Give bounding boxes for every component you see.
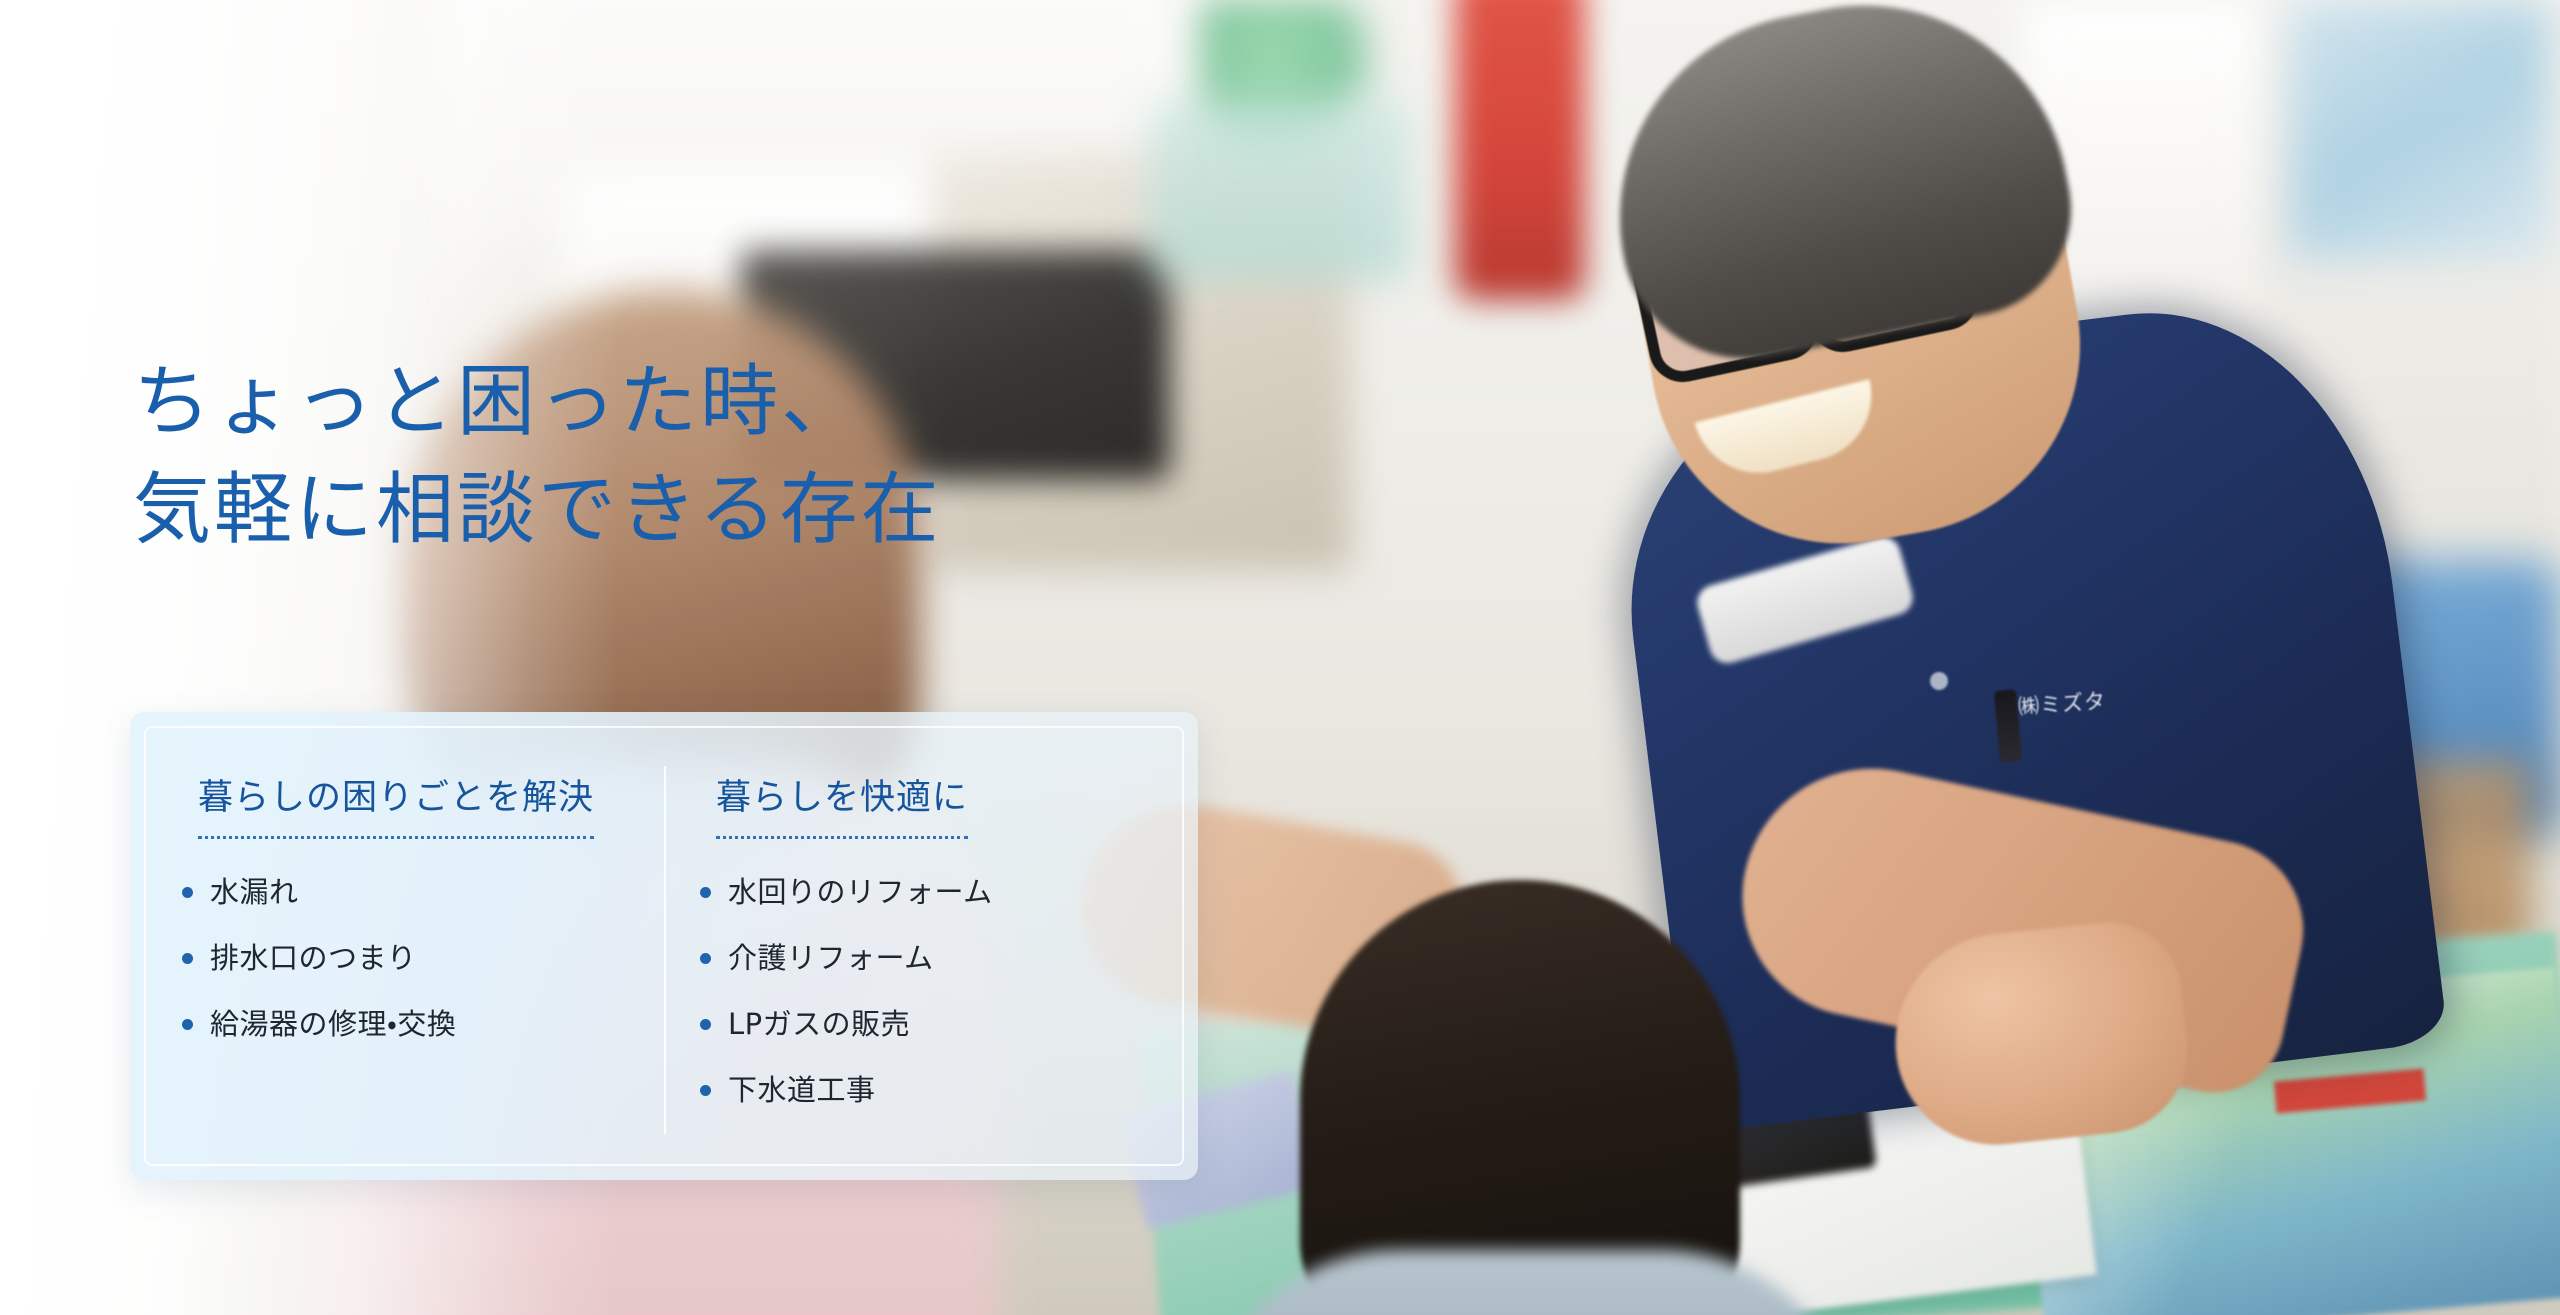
heading-dotted-rule: [198, 836, 594, 839]
list-item: 下水道工事: [728, 1073, 1182, 1107]
bullet-dot-icon: [700, 887, 711, 898]
bullet-dot-icon: [182, 887, 193, 898]
list-item-label: 介護リフォーム: [728, 941, 934, 975]
services-info-card-inner-frame: 暮らしの困りごとを解決 水漏れ 排水口のつまり 給湯器の修理・交換 暮らしを快適…: [144, 726, 1184, 1166]
photo-uniform-button: [1930, 672, 1948, 690]
heading-dotted-rule: [716, 836, 968, 839]
list-item: 給湯器の修理・交換: [210, 1007, 664, 1041]
list-item: 水回りのリフォーム: [728, 875, 1182, 909]
hero-section: ㈱ミズタ ちょっと困った時、 気軽に相談できる存在 暮らしの困りごとを解決: [0, 0, 2560, 1315]
services-column-comfort-heading: 暮らしを快適に: [716, 776, 968, 820]
services-column-troubles-heading-wrap: 暮らしの困りごとを解決: [198, 776, 594, 839]
photo-shelf-blue-signage: [2290, 0, 2550, 260]
photo-red-cylinder: [1455, 0, 1585, 300]
photo-teal-object: [1150, 100, 1410, 280]
services-list-comfort: 水回りのリフォーム 介護リフォーム LPガスの販売 下水道工事: [664, 875, 1182, 1107]
services-info-card: 暮らしの困りごとを解決 水漏れ 排水口のつまり 給湯器の修理・交換 暮らしを快適…: [130, 712, 1198, 1180]
list-item-label: LPガスの販売: [728, 1007, 910, 1041]
photo-uniform-logo-text: ㈱ミズタ: [2017, 685, 2107, 721]
services-column-comfort: 暮らしを快適に 水回りのリフォーム 介護リフォーム LPガスの販売 下水道工事: [664, 728, 1182, 1164]
bullet-dot-icon: [182, 1019, 193, 1030]
list-item-label: 排水口のつまり: [210, 941, 417, 975]
bullet-dot-icon: [182, 953, 193, 964]
list-item: 排水口のつまり: [210, 941, 664, 975]
list-item-label: 水回りのリフォーム: [728, 875, 993, 909]
list-item-label: 給湯器の修理・交換: [210, 1007, 456, 1041]
headline-line-2: 気軽に相談できる存在: [133, 456, 941, 564]
list-item-label: 下水道工事: [728, 1073, 876, 1107]
list-item-label: 水漏れ: [210, 875, 299, 909]
bullet-dot-icon: [700, 1019, 711, 1030]
services-column-comfort-heading-wrap: 暮らしを快適に: [716, 776, 968, 839]
services-list-troubles: 水漏れ 排水口のつまり 給湯器の修理・交換: [146, 875, 664, 1041]
services-column-troubles-heading: 暮らしの困りごとを解決: [198, 776, 594, 820]
services-column-troubles: 暮らしの困りごとを解決 水漏れ 排水口のつまり 給湯器の修理・交換: [146, 728, 664, 1164]
list-item: 水漏れ: [210, 875, 664, 909]
list-item: LPガスの販売: [728, 1007, 1182, 1041]
headline-line-1: ちょっと困った時、: [133, 348, 941, 456]
bullet-dot-icon: [700, 953, 711, 964]
hero-headline: ちょっと困った時、 気軽に相談できる存在: [133, 348, 941, 564]
list-item: 介護リフォーム: [728, 941, 1182, 975]
bullet-dot-icon: [700, 1085, 711, 1096]
